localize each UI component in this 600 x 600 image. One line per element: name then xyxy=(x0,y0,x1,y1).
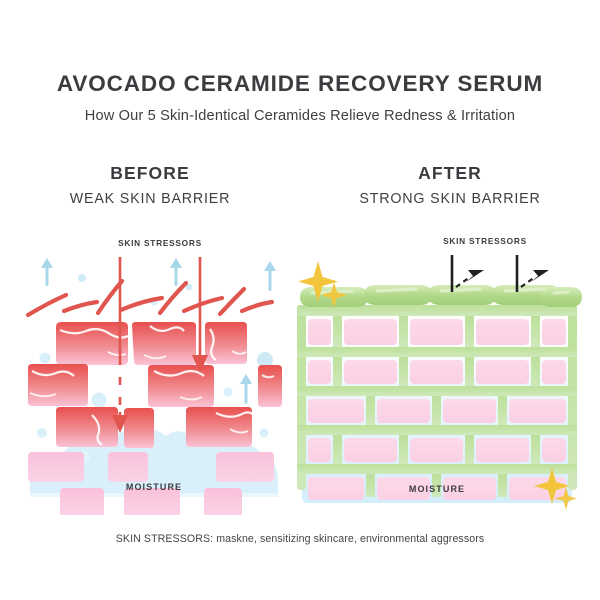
footer-note: SKIN STRESSORS: maskne, sensitizing skin… xyxy=(0,533,600,545)
infographic-page: AVOCADO CERAMIDE RECOVERY SERUM How Our … xyxy=(0,0,600,600)
moisture-arrow-up-icon xyxy=(264,261,276,291)
stressor-arrow-solid-icon xyxy=(192,257,208,373)
intact-brick-row xyxy=(60,488,242,515)
moisture-arrow-up-icon xyxy=(240,374,252,404)
column-headings: BEFORE WEAK SKIN BARRIER AFTER STRONG SK… xyxy=(0,163,600,207)
barrier-diagram: SKIN STRESSORS MOISTURE xyxy=(0,225,600,515)
before-heading: BEFORE xyxy=(0,163,300,184)
moisture-arrow-up-icon xyxy=(170,258,182,286)
before-panel: SKIN STRESSORS MOISTURE xyxy=(28,238,282,515)
after-stressors-label: SKIN STRESSORS xyxy=(443,236,527,246)
broken-brick-row xyxy=(56,322,247,365)
column-heading-before: BEFORE WEAK SKIN BARRIER xyxy=(0,163,300,207)
before-stressors-label: SKIN STRESSORS xyxy=(118,238,202,248)
after-moisture-label: MOISTURE xyxy=(409,484,465,494)
page-subtitle: How Our 5 Skin-Identical Ceramides Relie… xyxy=(0,108,600,124)
broken-brick-row xyxy=(28,364,282,407)
before-moisture-label: MOISTURE xyxy=(126,482,182,492)
header: AVOCADO CERAMIDE RECOVERY SERUM How Our … xyxy=(0,72,600,124)
after-subheading: STRONG SKIN BARRIER xyxy=(300,191,600,207)
after-panel: SKIN STRESSORS MOISTURE xyxy=(297,236,582,510)
before-subheading: WEAK SKIN BARRIER xyxy=(0,191,300,207)
page-title: AVOCADO CERAMIDE RECOVERY SERUM xyxy=(0,72,600,97)
moisture-arrow-up-icon xyxy=(41,258,53,286)
damaged-surface-flakes xyxy=(28,281,272,315)
column-heading-after: AFTER STRONG SKIN BARRIER xyxy=(300,163,600,207)
after-heading: AFTER xyxy=(300,163,600,184)
